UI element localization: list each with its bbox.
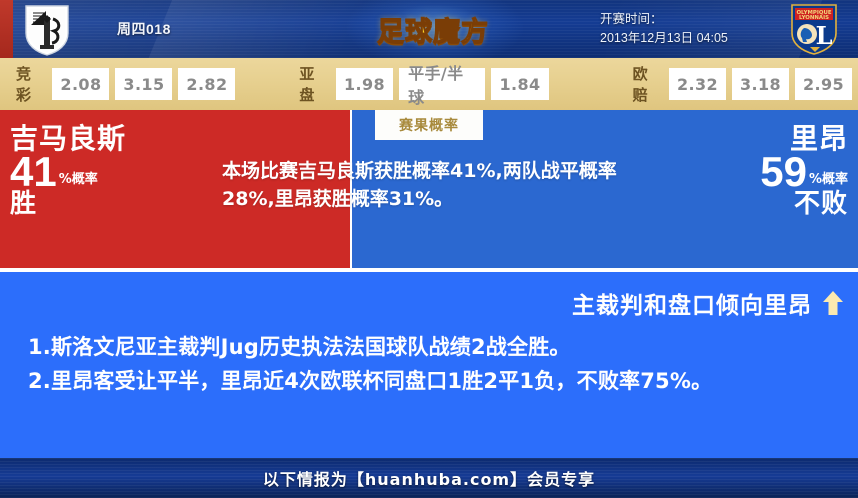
- home-percent-suffix: %概率: [59, 168, 98, 193]
- kickoff-time-block: 开赛时间： 2013年12月13日 04:05: [600, 10, 770, 49]
- home-result-label: 胜: [10, 191, 180, 218]
- brand-logo: 足球魔方: [363, 7, 503, 51]
- intel-block: 主裁判和盘口倾向里昂 1.斯洛文尼亚主裁判Jug历史执法法国球队战绩2战全胜。 …: [0, 272, 858, 458]
- intel-headline: 主裁判和盘口倾向里昂: [572, 286, 844, 320]
- svg-text:L: L: [816, 21, 833, 50]
- odds-cell-asian-home[interactable]: 1.98: [336, 68, 393, 100]
- odds-group-title: 竞彩: [16, 63, 45, 105]
- odds-cell-draw[interactable]: 3.15: [115, 68, 172, 100]
- odds-group-title: 亚盘: [299, 63, 329, 105]
- footer-membership-notice: 以下情报为【huanhuba.com】会员专享: [263, 466, 595, 490]
- odds-cell-asian-handicap[interactable]: 平手/半球: [399, 68, 485, 100]
- home-percent-row: 41 %概率: [10, 151, 180, 193]
- odds-bar: 竞彩 2.08 3.15 2.82 亚盘 1.98 平手/半球 1.84 欧赔 …: [0, 58, 858, 110]
- probability-block: 赛果概率 吉马良斯 41 %概率 胜 里昂 59 %概率 不败 本场比赛吉马良斯…: [0, 110, 858, 268]
- probability-summary-text: 本场比赛吉马良斯获胜概率41%,两队战平概率28%,里昂获胜概率31%。: [222, 158, 632, 213]
- odds-cell-euro-draw[interactable]: 3.18: [732, 68, 789, 100]
- away-probability-summary: 里昂 59 %概率 不败: [638, 124, 848, 219]
- away-team-name: 里昂: [638, 124, 848, 153]
- intel-item-1: 1.斯洛文尼亚主裁判Jug历史执法法国球队战绩2战全胜。: [28, 332, 840, 364]
- odds-cell-asian-away[interactable]: 1.84: [491, 68, 548, 100]
- home-team-crest-icon: [20, 3, 74, 57]
- intel-list: 1.斯洛文尼亚主裁判Jug历史执法法国球队战绩2战全胜。 2.里昂客受让平半，里…: [28, 332, 840, 400]
- header-bar: 周四018 足球魔方 开赛时间： 2013年12月13日 04:05 OLYMP…: [0, 0, 858, 58]
- arrow-up-icon: [822, 290, 844, 316]
- away-team-crest-icon: OLYMPIQUE LYONNAIS L: [788, 3, 840, 55]
- odds-group-jingcai: 竞彩 2.08 3.15 2.82: [16, 63, 241, 105]
- odds-cell-away-win[interactable]: 2.82: [178, 68, 235, 100]
- kickoff-label: 开赛时间：: [600, 10, 770, 29]
- odds-cell-home-win[interactable]: 2.08: [52, 68, 109, 100]
- tab-result-probability-label: 赛果概率: [399, 115, 459, 135]
- home-probability-summary: 吉马良斯 41 %概率 胜: [10, 124, 180, 219]
- intel-headline-text: 主裁判和盘口倾向里昂: [572, 286, 812, 320]
- intel-item-2: 2.里昂客受让平半，里昂近4次欧联杯同盘口1胜2平1负，不败率75%。: [28, 366, 840, 398]
- match-round-label: 周四018: [117, 19, 171, 39]
- brand-logo-text: 足球魔方: [377, 10, 489, 49]
- away-percent-row: 59 %概率: [638, 151, 848, 193]
- kickoff-value: 2013年12月13日 04:05: [600, 29, 770, 48]
- match-preview-graphic: 周四018 足球魔方 开赛时间： 2013年12月13日 04:05 OLYMP…: [0, 0, 858, 498]
- odds-cell-euro-home[interactable]: 2.32: [669, 68, 726, 100]
- away-result-label: 不败: [638, 191, 848, 218]
- tab-result-probability[interactable]: 赛果概率: [375, 110, 483, 140]
- header-accent-stripe: [0, 0, 13, 58]
- away-percent-value: 59: [760, 151, 807, 193]
- odds-cell-euro-away[interactable]: 2.95: [795, 68, 852, 100]
- odds-group-title: 欧赔: [633, 63, 662, 105]
- home-percent-value: 41: [10, 151, 57, 193]
- odds-group-oupei: 欧赔 2.32 3.18 2.95: [633, 63, 858, 105]
- odds-group-yapan: 亚盘 1.98 平手/半球 1.84: [299, 63, 554, 105]
- footer-bar: 以下情报为【huanhuba.com】会员专享: [0, 458, 858, 498]
